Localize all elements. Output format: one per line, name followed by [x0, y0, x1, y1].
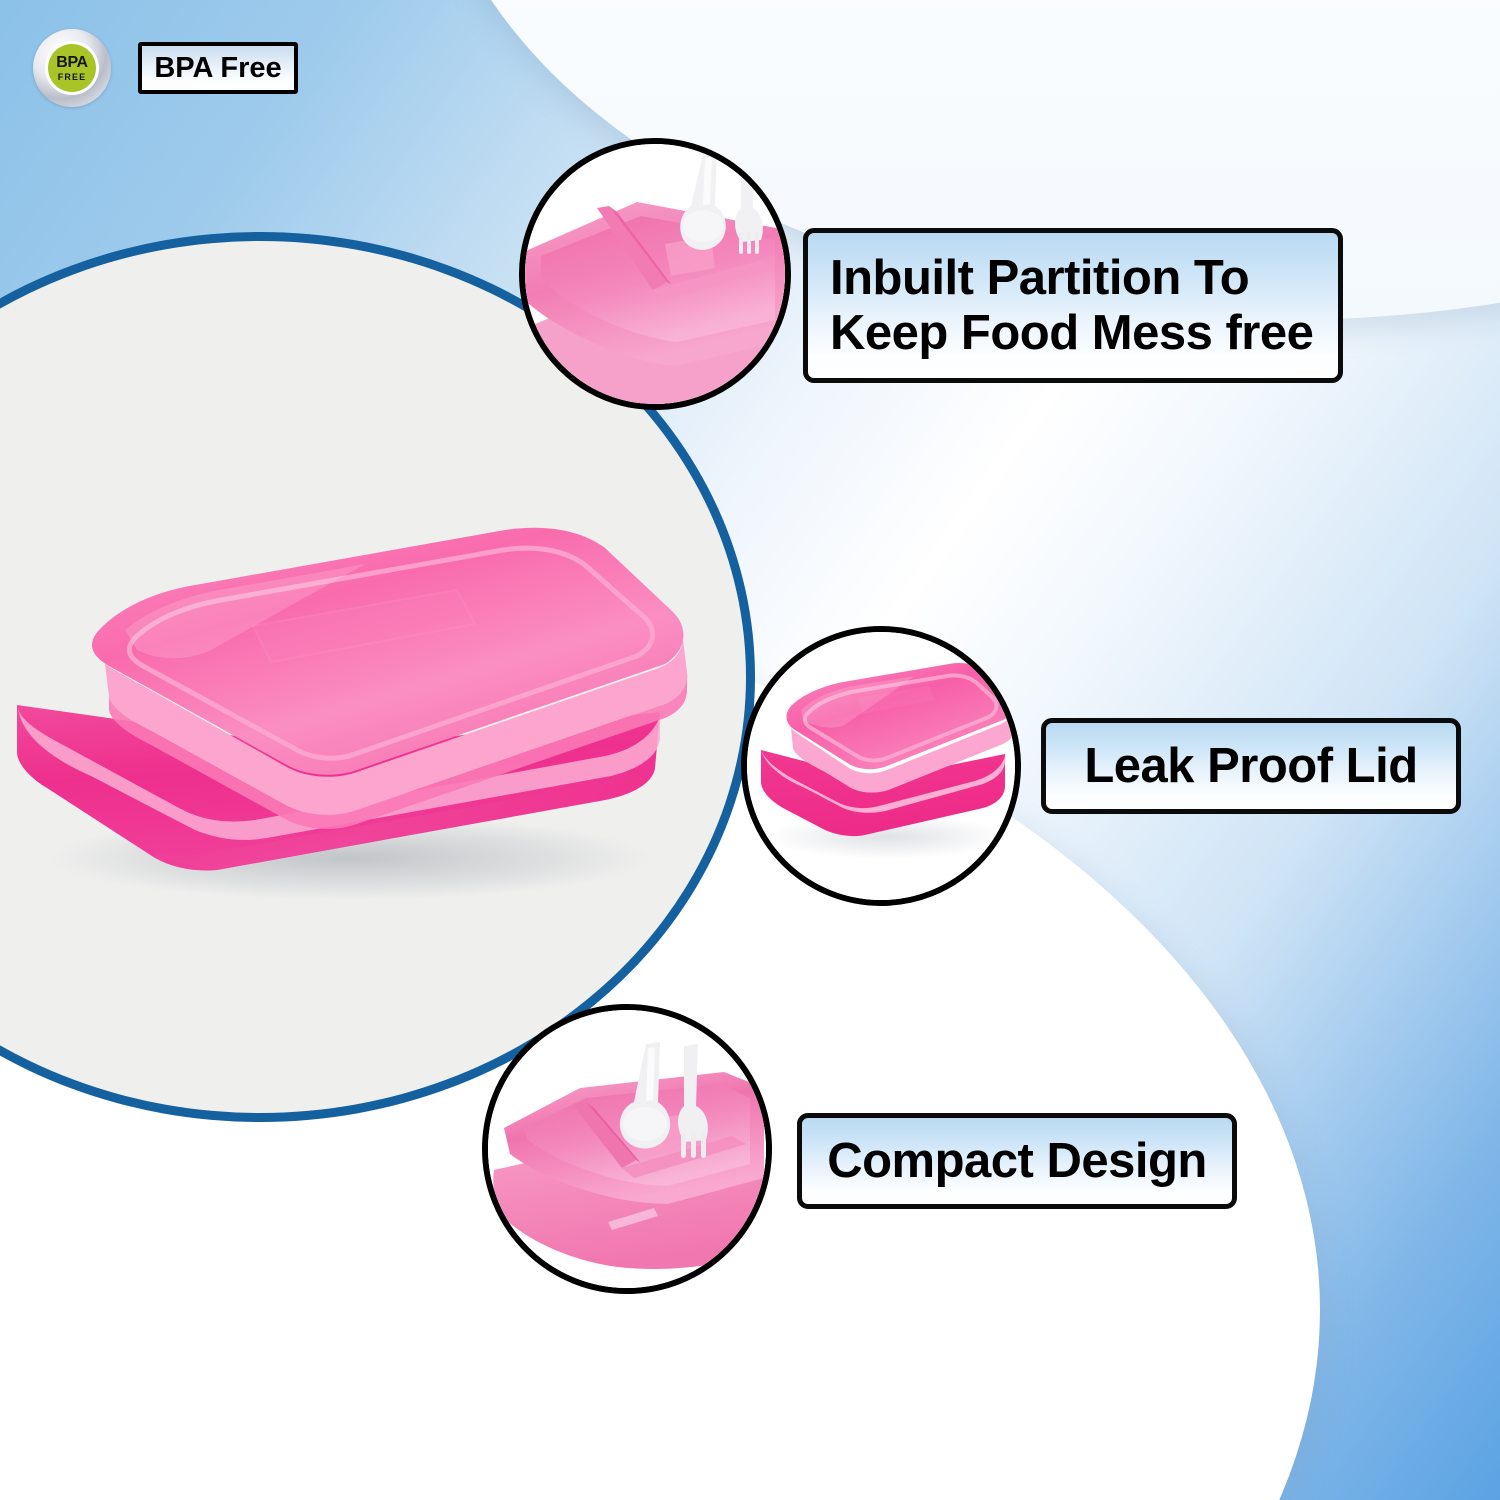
- callout-leak-proof-lid: [741, 626, 1021, 906]
- bpa-seal-inner-ring: BPA FREE: [45, 41, 99, 95]
- feature-label-compact-design: Compact Design: [797, 1113, 1237, 1209]
- bpa-seal-line1: BPA: [56, 55, 87, 71]
- bpa-free-label: BPA Free: [138, 42, 298, 94]
- feature-label-line2: Keep Food Mess free: [830, 306, 1313, 361]
- bpa-free-seal-icon: BPA FREE: [33, 29, 111, 107]
- callout-compact-design: [482, 1004, 772, 1294]
- feature-label-leak-proof-lid: Leak Proof Lid: [1041, 718, 1461, 814]
- callout-inbuilt-partition: [519, 138, 791, 410]
- hero-product-image: [5, 500, 695, 900]
- feature-label-inbuilt-partition: Inbuilt Partition To Keep Food Mess free: [803, 228, 1343, 383]
- infographic-canvas: BPA FREE BPA Free: [0, 0, 1500, 1500]
- bpa-seal-line2: FREE: [58, 73, 86, 82]
- feature-label-line1: Inbuilt Partition To: [830, 251, 1249, 306]
- bpa-seal-core: BPA FREE: [48, 44, 96, 92]
